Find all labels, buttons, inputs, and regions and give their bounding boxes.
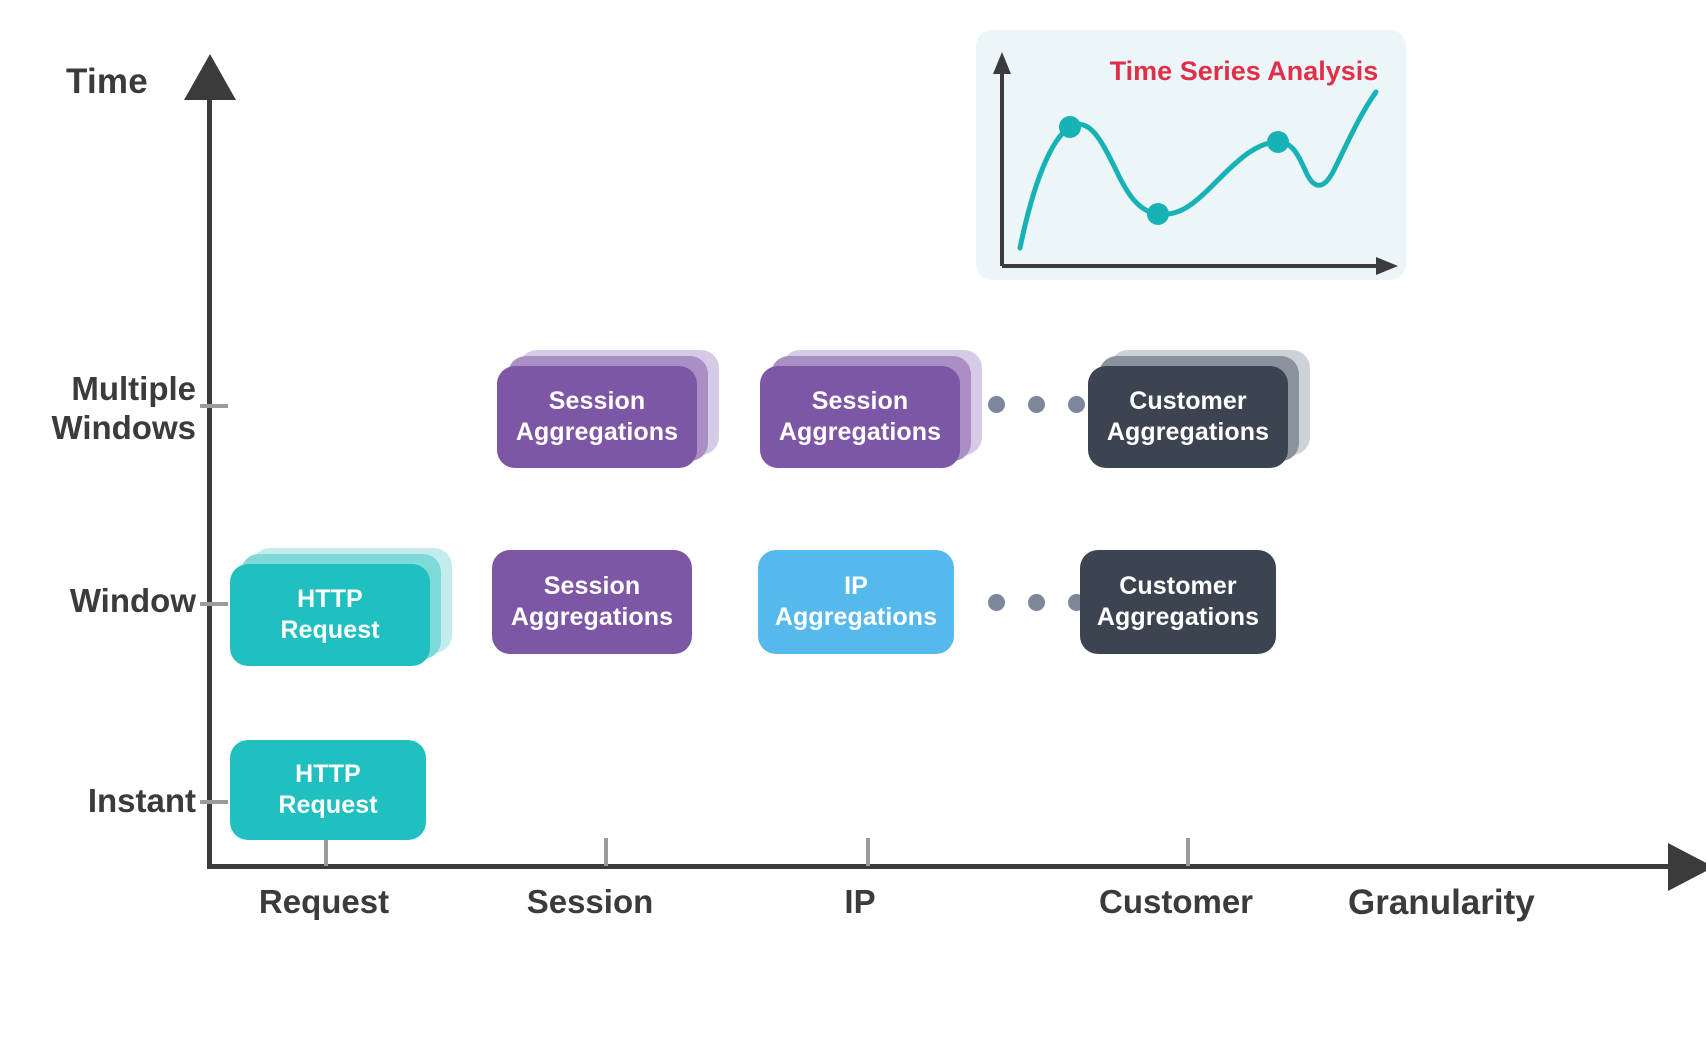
line-chart-icon (976, 30, 1406, 280)
time-series-analysis-panel[interactable]: Time Series Analysis (976, 30, 1406, 280)
card-front: HTTP Request (230, 740, 426, 840)
x-axis-line (207, 864, 1677, 869)
card-session-aggregations-window[interactable]: Session Aggregations (492, 550, 692, 654)
card-front: HTTP Request (230, 564, 430, 666)
card-front: Session Aggregations (497, 366, 697, 468)
y-axis-title: Time (66, 62, 148, 102)
card-session-aggregations-ip-multiple-windows[interactable]: Session Aggregations (760, 350, 982, 470)
x-axis-label-ip: IP (844, 883, 875, 921)
y-tick-instant (200, 800, 228, 804)
y-axis-label-instant: Instant (0, 782, 196, 821)
card-customer-aggregations-multiple-windows[interactable]: Customer Aggregations (1088, 350, 1310, 470)
card-front: IP Aggregations (758, 550, 954, 654)
card-http-request-window[interactable]: HTTP Request (230, 548, 452, 668)
y-axis-line (207, 96, 212, 868)
card-customer-aggregations-window[interactable]: Customer Aggregations (1080, 550, 1276, 654)
card-http-request-instant[interactable]: HTTP Request (230, 740, 426, 840)
dot-icon (1068, 396, 1085, 413)
dot-icon (988, 396, 1005, 413)
card-front: Customer Aggregations (1080, 550, 1276, 654)
x-axis-label-session: Session (527, 883, 654, 921)
card-session-aggregations-multiple-windows[interactable]: Session Aggregations (497, 350, 719, 470)
ellipsis-dots-window (988, 594, 1085, 611)
y-tick-window (200, 602, 228, 606)
card-ip-aggregations-window[interactable]: IP Aggregations (758, 550, 954, 654)
y-axis-label-window: Window (0, 582, 196, 621)
x-tick-ip (866, 838, 870, 866)
x-axis-label-request: Request (259, 883, 389, 921)
card-front: Session Aggregations (760, 366, 960, 468)
x-axis-label-customer: Customer (1099, 883, 1253, 921)
x-axis-arrow-icon (1668, 843, 1706, 891)
x-tick-request (324, 838, 328, 866)
dot-icon (1028, 594, 1045, 611)
card-front: Session Aggregations (492, 550, 692, 654)
ellipsis-dots-multiple-windows (988, 396, 1085, 413)
y-tick-multiple-windows (200, 404, 228, 408)
dot-icon (1028, 396, 1045, 413)
card-front: Customer Aggregations (1088, 366, 1288, 468)
y-axis-label-multiple-windows: Multiple Windows (0, 370, 196, 448)
x-axis-title: Granularity (1348, 883, 1535, 923)
y-axis-arrow-icon (184, 54, 236, 100)
x-tick-customer (1186, 838, 1190, 866)
x-tick-session (604, 838, 608, 866)
dot-icon (988, 594, 1005, 611)
diagram-canvas: Time Granularity Multiple Windows Window… (0, 0, 1706, 1050)
